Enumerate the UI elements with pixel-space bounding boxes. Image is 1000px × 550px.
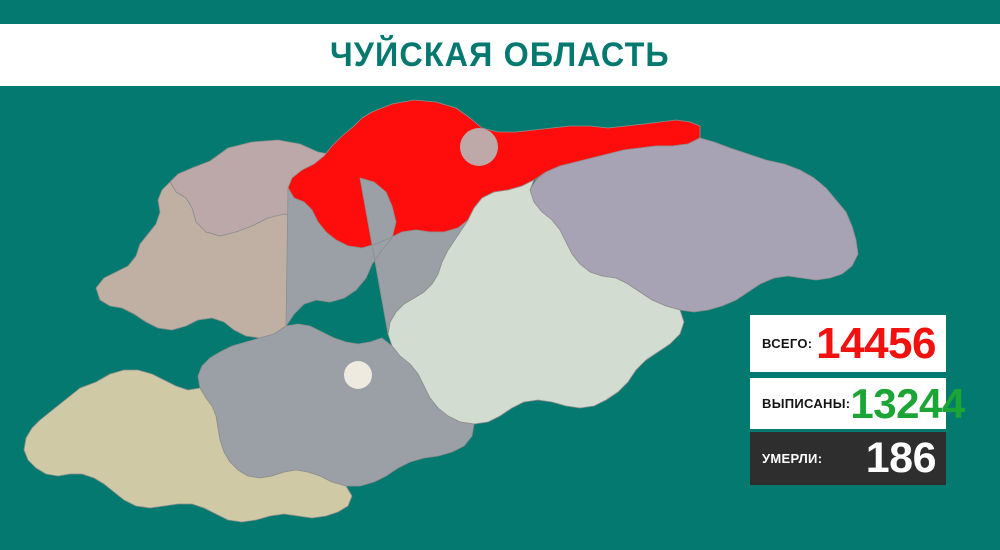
- stat-label-recovered: ВЫПИСАНЫ:: [762, 396, 850, 411]
- stat-row-total: ВСЕГО: 14456: [750, 315, 946, 372]
- statistics-panel: ВСЕГО: 14456 ВЫПИСАНЫ: 13244 УМЕРЛИ: 186: [750, 315, 946, 485]
- stat-value-deaths: 186: [822, 437, 936, 480]
- city-marker-osh[interactable]: [344, 361, 372, 389]
- page-title: ЧУЙСКАЯ ОБЛАСТЬ: [330, 36, 670, 75]
- stat-label-total: ВСЕГО:: [762, 336, 812, 351]
- title-band: ЧУЙСКАЯ ОБЛАСТЬ: [0, 24, 1000, 86]
- top-accent-bar: [0, 0, 1000, 24]
- stat-value-total: 14456: [812, 322, 936, 366]
- stat-row-recovered: ВЫПИСАНЫ: 13244: [750, 378, 946, 429]
- stat-row-deaths: УМЕРЛИ: 186: [750, 432, 946, 485]
- stat-label-deaths: УМЕРЛИ:: [762, 451, 822, 466]
- infographic-canvas: ЧУЙСКАЯ ОБЛАСТЬ ВСЕГО: 1: [0, 0, 1000, 550]
- city-marker-bishkek[interactable]: [460, 128, 498, 166]
- stat-value-recovered: 13244: [850, 383, 964, 425]
